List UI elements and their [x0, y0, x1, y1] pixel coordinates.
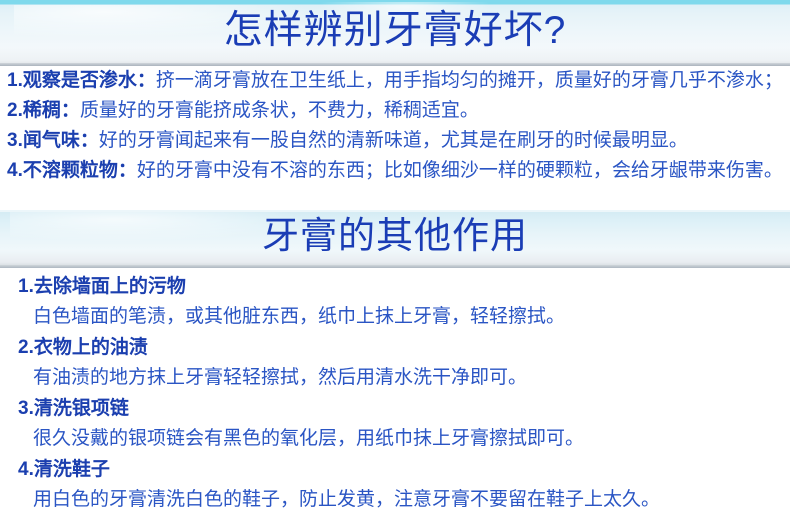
list-item-heading: 4.清洗鞋子 — [0, 455, 790, 485]
list-item: 1.观察是否渗水：挤一滴牙膏放在卫生纸上，用手指均匀的摊开，质量好的牙膏几乎不渗… — [0, 66, 790, 96]
list-item: 3.清洗银项链 很久没戴的银项链会有黑色的氧化层，用纸巾抹上牙膏擦拭即可。 — [0, 394, 790, 454]
list-item: 4.不溶颗粒物：好的牙膏中没有不溶的东西；比如像细沙一样的硬颗粒，会给牙龈带来伤… — [0, 156, 790, 186]
list-item-lead: 1.观察是否渗水： — [7, 70, 156, 91]
list-item-body: 好的牙膏中没有不溶的东西；比如像细沙一样的硬颗粒，会给牙龈带来伤害。 — [137, 160, 783, 181]
banner-section-one: 怎样辨别牙膏好坏? — [0, 0, 790, 66]
list-item-lead: 3.闻气味： — [7, 130, 99, 151]
list-item: 2.稀稠：质量好的牙膏能挤成条状，不费力，稀稠适宜。 — [0, 96, 790, 126]
list-item-heading: 1.去除墙面上的污物 — [0, 272, 790, 302]
infographic-page: 怎样辨别牙膏好坏? 1.观察是否渗水：挤一滴牙膏放在卫生纸上，用手指均匀的摊开，… — [0, 0, 790, 531]
banner-section-two: 牙膏的其他作用 — [0, 210, 790, 268]
list-item-heading: 3.清洗银项链 — [0, 394, 790, 424]
list-item: 4.清洗鞋子 用白色的牙膏清洗白色的鞋子，防止发黄，注意牙膏不要留在鞋子上太久。 — [0, 455, 790, 515]
list-item-lead: 4.不溶颗粒物： — [7, 160, 137, 181]
list-item: 3.闻气味：好的牙膏闻起来有一股自然的清新味道，尤其是在刷牙的时候最明显。 — [0, 126, 790, 156]
other-uses-list: 1.去除墙面上的污物 白色墙面的笔渍，或其他脏东西，纸巾上抹上牙膏，轻轻擦拭。 … — [0, 272, 790, 516]
page-title-secondary: 牙膏的其他作用 — [0, 211, 790, 261]
list-item-detail: 有油渍的地方抹上牙膏轻轻擦拭，然后用清水洗干净即可。 — [0, 363, 790, 393]
identification-tips-list: 1.观察是否渗水：挤一滴牙膏放在卫生纸上，用手指均匀的摊开，质量好的牙膏几乎不渗… — [0, 66, 790, 186]
list-item-detail: 白色墙面的笔渍，或其他脏东西，纸巾上抹上牙膏，轻轻擦拭。 — [0, 302, 790, 332]
list-item-detail: 用白色的牙膏清洗白色的鞋子，防止发黄，注意牙膏不要留在鞋子上太久。 — [0, 485, 790, 515]
list-item-detail: 很久没戴的银项链会有黑色的氧化层，用纸巾抹上牙膏擦拭即可。 — [0, 424, 790, 454]
page-title-primary: 怎样辨别牙膏好坏? — [0, 5, 790, 57]
list-item: 2.衣物上的油渍 有油渍的地方抹上牙膏轻轻擦拭，然后用清水洗干净即可。 — [0, 333, 790, 393]
list-item-heading: 2.衣物上的油渍 — [0, 333, 790, 363]
list-item: 1.去除墙面上的污物 白色墙面的笔渍，或其他脏东西，纸巾上抹上牙膏，轻轻擦拭。 — [0, 272, 790, 332]
list-item-body: 好的牙膏闻起来有一股自然的清新味道，尤其是在刷牙的时候最明显。 — [99, 130, 688, 151]
list-item-lead: 2.稀稠： — [7, 100, 80, 121]
list-item-body: 挤一滴牙膏放在卫生纸上，用手指均匀的摊开，质量好的牙膏几乎不渗水； — [156, 70, 783, 91]
list-item-body: 质量好的牙膏能挤成条状，不费力，稀稠适宜。 — [80, 100, 479, 121]
